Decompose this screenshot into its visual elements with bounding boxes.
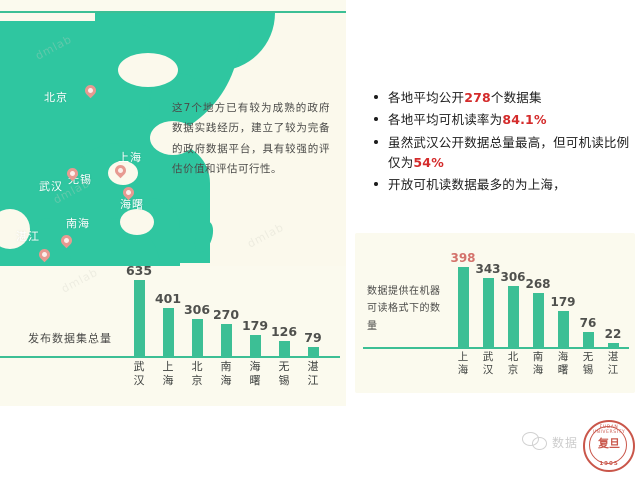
bar[interactable]	[608, 343, 619, 347]
bar[interactable]	[163, 308, 174, 356]
bar[interactable]	[533, 293, 544, 347]
bar-column: 76	[576, 332, 600, 347]
x-axis-label: 武汉	[126, 360, 152, 388]
bar-value-label: 306	[184, 302, 210, 317]
bullet-item: 各地平均可机读率为84.1%	[388, 110, 634, 130]
bar[interactable]	[134, 280, 145, 356]
bar[interactable]	[508, 286, 519, 347]
x-axis-label: 海曙	[551, 351, 575, 377]
bar-value-label: 635	[126, 263, 152, 278]
bullet-list: 各地平均公开278个数据集各地平均可机读率为84.1%虽然武汉公开数据总量最高，…	[372, 88, 634, 197]
map-bay-bohai	[118, 53, 178, 87]
x-axis-label: 南海	[526, 351, 550, 377]
bar[interactable]	[250, 335, 261, 356]
bar-value-label: 268	[525, 277, 550, 291]
map-caption-text: 这7个地方已有较为成熟的政府数据实践经历，建立了较为完备的政府数据平台，具有较强…	[172, 98, 330, 180]
seal-top-text: FUDAN UNIVERSITY	[585, 425, 633, 435]
bar-column: 270	[213, 324, 239, 356]
bullet-item: 虽然武汉公开数据总量最高，但可机读比例仅为54%	[388, 133, 634, 174]
chart-right-bars: 3983433062681797622	[451, 259, 631, 347]
x-axis-label: 武汉	[476, 351, 500, 377]
bar-value-label: 306	[500, 270, 525, 284]
chart-machine-readable: 数据提供在机器可读格式下的数量 3983433062681797622 上海武汉…	[355, 233, 635, 393]
bullet-text-pre: 开放可机读数据最多的为上海，	[388, 177, 566, 192]
chart-right-baseline	[363, 347, 629, 349]
x-axis-label: 北京	[501, 351, 525, 377]
chart-total-datasets: 发布数据集总量 63540130627017912679 武汉上海北京南海海曙无…	[0, 262, 346, 406]
x-axis-label: 上海	[451, 351, 475, 377]
bar-column: 343	[476, 278, 500, 347]
bar-column: 79	[300, 347, 326, 356]
bullet-dot-icon	[374, 140, 378, 144]
bar[interactable]	[221, 324, 232, 356]
bullet-item: 各地平均公开278个数据集	[388, 88, 634, 108]
bar-value-label: 270	[213, 307, 239, 322]
slide-canvas: 北京 上海 无锡 武汉 海曙 南海 湛江 dmlab dmlab dmlab 这…	[0, 0, 640, 480]
bar-column: 126	[271, 341, 297, 356]
bullet-item: 开放可机读数据最多的为上海，	[388, 175, 634, 195]
map-city-label-nanhai: 南海	[66, 215, 90, 231]
bar-value-label: 79	[304, 330, 321, 345]
bar-value-label: 76	[580, 316, 597, 330]
bar-value-label: 179	[550, 295, 575, 309]
bar-column: 306	[184, 319, 210, 356]
bar-value-label: 401	[155, 291, 181, 306]
x-axis-label: 湛江	[601, 351, 625, 377]
bar-value-label: 126	[271, 324, 297, 339]
bar-column: 401	[155, 308, 181, 356]
x-axis-label: 海曙	[242, 360, 268, 388]
chart-right-xaxis-labels: 上海武汉北京南海海曙无锡湛江	[451, 351, 631, 393]
bar-value-label: 398	[450, 251, 475, 265]
bullet-dot-icon	[374, 182, 378, 186]
bullet-text-post: 个数据集	[491, 90, 542, 105]
bullet-dot-icon	[374, 117, 378, 121]
bullet-text-pre: 各地平均可机读率为	[388, 112, 502, 127]
x-axis-label: 湛江	[300, 360, 326, 388]
bar-value-label: 343	[475, 262, 500, 276]
chart-left-xaxis-labels: 武汉上海北京南海海曙无锡湛江	[126, 360, 336, 404]
bar-value-label: 179	[242, 318, 268, 333]
fudan-university-seal-icon: FUDAN UNIVERSITY 复旦 1905	[583, 420, 635, 472]
bar-column: 22	[601, 343, 625, 347]
bullet-highlight-value: 54%	[413, 155, 444, 170]
x-axis-label: 北京	[184, 360, 210, 388]
bar[interactable]	[583, 332, 594, 347]
x-axis-label: 南海	[213, 360, 239, 388]
footer-branding: 数据 FUDAN UNIVERSITY 复旦 1905	[520, 418, 632, 470]
bar-value-label: 22	[605, 327, 622, 341]
map-city-label-haishu: 海曙	[120, 196, 144, 212]
bar-column: 635	[126, 280, 152, 356]
bar-column: 179	[551, 311, 575, 347]
bar-column: 268	[526, 293, 550, 347]
x-axis-label: 上海	[155, 360, 181, 388]
bar[interactable]	[458, 267, 469, 347]
bar[interactable]	[192, 319, 203, 356]
chart-right-title: 数据提供在机器可读格式下的数量	[367, 283, 445, 336]
bullet-dot-icon	[374, 95, 378, 99]
bar[interactable]	[279, 341, 290, 356]
watermark: dmlab	[59, 265, 100, 295]
bar[interactable]	[308, 347, 319, 356]
bar-column: 179	[242, 335, 268, 356]
map-city-label-zhanjiang: 湛江	[16, 228, 40, 244]
footer-watermark-text: 数据	[552, 434, 578, 451]
chart-left-bars: 63540130627017912679	[126, 270, 336, 356]
map-city-label-beijing: 北京	[44, 89, 68, 105]
x-axis-label: 无锡	[576, 351, 600, 377]
x-axis-label: 无锡	[271, 360, 297, 388]
bar-column: 306	[501, 286, 525, 347]
map-city-label-wuhan: 武汉	[39, 178, 63, 194]
bullet-highlight-value: 278	[464, 90, 491, 105]
bullet-highlight-value: 84.1%	[502, 112, 546, 127]
bullet-text-pre: 各地平均公开	[388, 90, 464, 105]
seal-center-text: 复旦	[585, 438, 633, 449]
seal-year-text: 1905	[585, 461, 633, 467]
bar[interactable]	[558, 311, 569, 347]
wechat-icon	[522, 432, 548, 450]
map-city-label-shanghai: 上海	[118, 149, 142, 165]
left-panel: 北京 上海 无锡 武汉 海曙 南海 湛江 dmlab dmlab dmlab 这…	[0, 0, 346, 406]
bar[interactable]	[483, 278, 494, 347]
map-inlet-b	[120, 209, 154, 235]
chart-left-baseline	[0, 356, 340, 358]
bar-column: 398	[451, 267, 475, 347]
